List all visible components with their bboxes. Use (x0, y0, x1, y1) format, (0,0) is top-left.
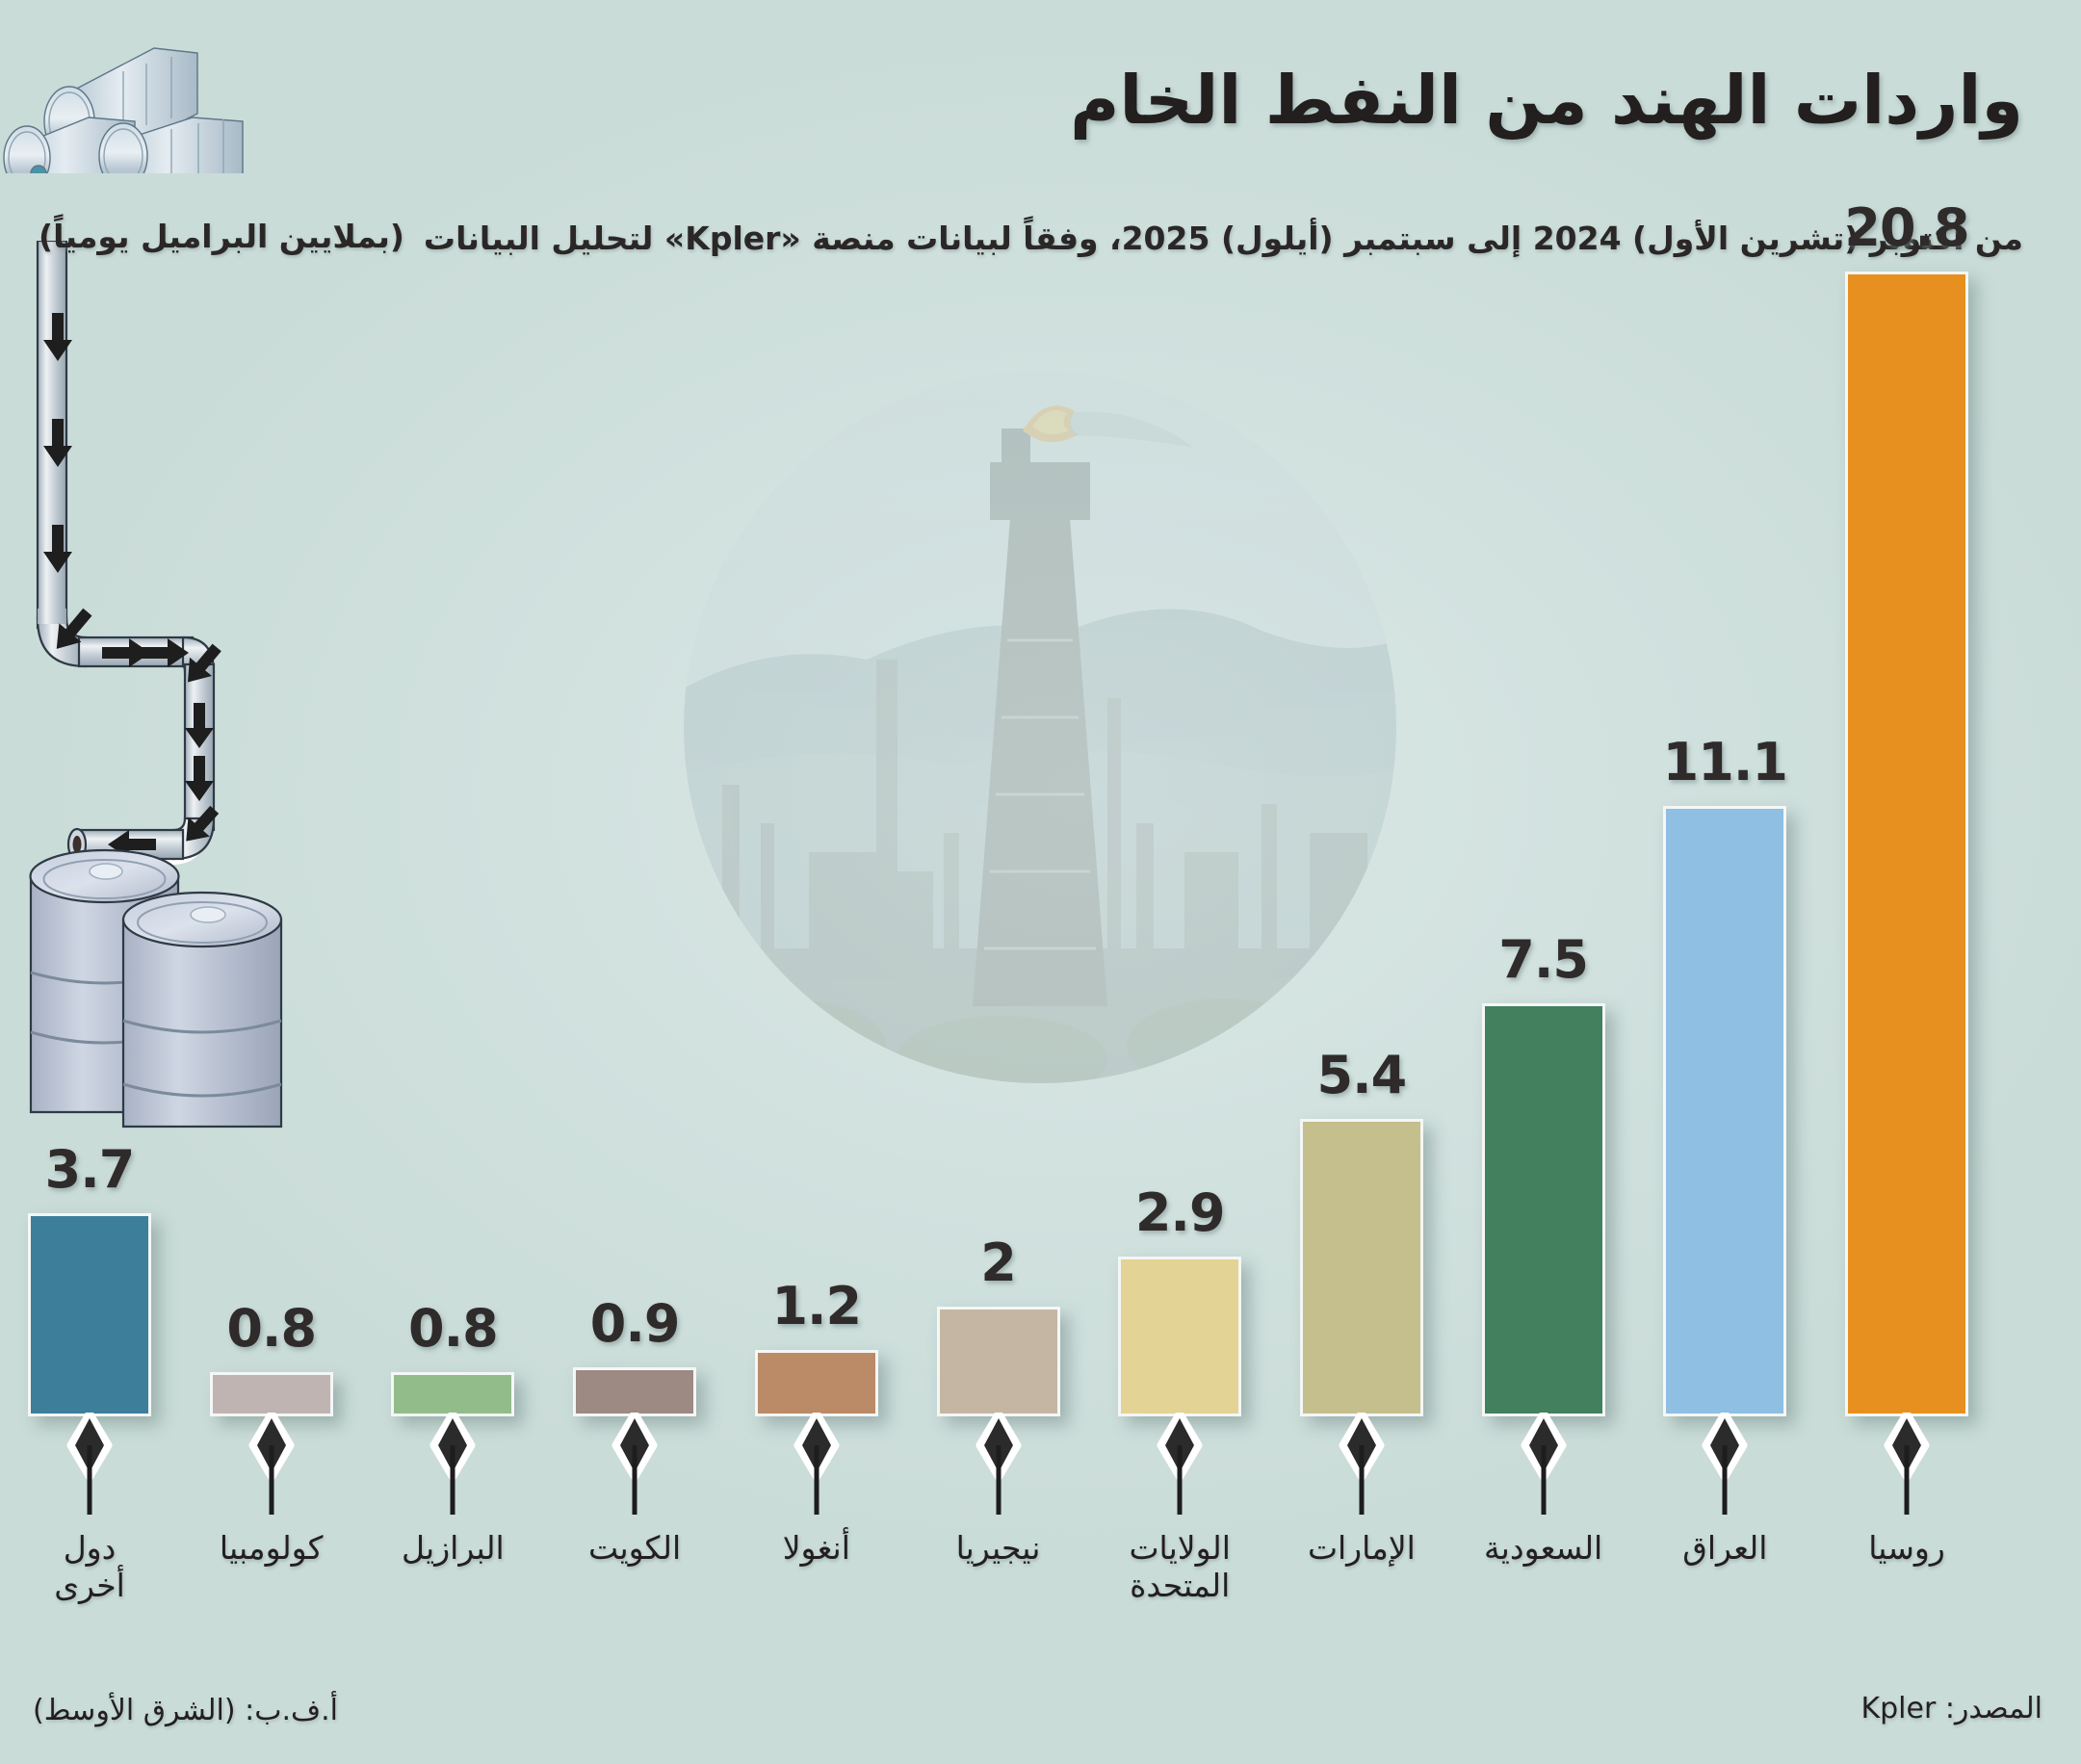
bar-group: 2 (937, 1018, 1060, 1416)
bar-group: 0.9 (573, 1078, 696, 1416)
bar-rect[interactable] (937, 1307, 1060, 1416)
bar-category-label: العراق (1682, 1530, 1767, 1568)
bar-rect[interactable] (755, 1350, 878, 1416)
bar-value-label: 1.2 (771, 1276, 861, 1336)
bar-group: 20.8 (1845, 0, 1968, 1416)
bar-value-label: 3.7 (45, 1139, 135, 1200)
bar-category-label: دولأخرى (54, 1530, 125, 1605)
bar-category-line: الكويت (588, 1530, 681, 1568)
bar-category-line: أنغولا (783, 1530, 850, 1568)
bar-marker-icon (427, 1413, 479, 1517)
bar-group: 5.4 (1300, 830, 1423, 1416)
bar-category-label: روسيا (1868, 1530, 1945, 1568)
bar-category-line: الإمارات (1308, 1530, 1416, 1568)
bar-group: 0.8 (391, 1083, 514, 1416)
bar-group: 11.1 (1663, 517, 1786, 1417)
bar-marker-icon (1518, 1413, 1570, 1517)
bar-rect[interactable] (28, 1213, 151, 1417)
bar-rect[interactable] (1482, 1003, 1605, 1416)
bar-group: 0.8 (210, 1083, 333, 1416)
infographic-page: واردات الهند من النفط الخام من أكتوبر (ت… (0, 0, 2081, 1764)
credit-text: أ.ف.ب: (الشرق الأوسط) (33, 1694, 338, 1727)
bar-marker-icon (1881, 1413, 1933, 1517)
bar-category-label: نيجيريا (956, 1530, 1041, 1568)
bar-category-line: نيجيريا (956, 1530, 1041, 1568)
bar-marker-icon (64, 1413, 116, 1517)
bar-value-label: 0.9 (590, 1293, 680, 1354)
bar-chart: 3.7دولأخرى0.8كولومبيا0.8البرازيل0.9الكوي… (0, 0, 2081, 1764)
bar-value-label: 5.4 (1317, 1045, 1407, 1105)
bar-category-line: روسيا (1868, 1530, 1945, 1568)
bar-value-label: 0.8 (408, 1298, 498, 1359)
bar-group: 3.7 (28, 924, 151, 1417)
bar-category-label: السعودية (1484, 1530, 1602, 1568)
bar-marker-icon (791, 1413, 843, 1517)
bar-value-label: 2 (980, 1232, 1016, 1293)
bar-group: 1.2 (755, 1061, 878, 1416)
bar-category-line: العراق (1682, 1530, 1767, 1568)
bar-category-line: دول (54, 1530, 125, 1568)
bar-value-label: 2.9 (1135, 1182, 1225, 1243)
bar-rect[interactable] (210, 1372, 333, 1416)
bar-marker-icon (1336, 1413, 1388, 1517)
bar-marker-icon (1699, 1413, 1751, 1517)
bar-value-label: 20.8 (1844, 197, 1968, 258)
bar-value-label: 7.5 (1498, 929, 1588, 990)
bar-category-label: الإمارات (1308, 1530, 1416, 1568)
bar-category-label: أنغولا (783, 1530, 850, 1568)
bar-rect[interactable] (1118, 1257, 1241, 1416)
bar-category-label: البرازيل (402, 1530, 505, 1568)
bar-category-line: المتحدة (1129, 1568, 1230, 1605)
bar-rect[interactable] (1300, 1119, 1423, 1416)
bar-marker-icon (973, 1413, 1025, 1517)
bar-category-line: أخرى (54, 1568, 125, 1605)
bar-category-label: كولومبيا (220, 1530, 324, 1568)
bar-group: 2.9 (1118, 968, 1241, 1416)
bar-category-line: السعودية (1484, 1530, 1602, 1568)
bar-rect[interactable] (391, 1372, 514, 1416)
source-text: المصدر: Kpler (1860, 1692, 2042, 1725)
bar-marker-icon (1154, 1413, 1206, 1517)
bar-marker-icon (246, 1413, 298, 1517)
bar-category-line: الولايات (1129, 1530, 1230, 1568)
bar-rect[interactable] (1845, 272, 1968, 1416)
bar-category-line: كولومبيا (220, 1530, 324, 1568)
bar-value-label: 11.1 (1663, 732, 1787, 792)
bar-rect[interactable] (1663, 806, 1786, 1417)
bar-value-label: 0.8 (226, 1298, 316, 1359)
bar-rect[interactable] (573, 1367, 696, 1416)
bar-category-label: الكويت (588, 1530, 681, 1568)
bar-marker-icon (609, 1413, 661, 1517)
bar-category-label: الولاياتالمتحدة (1129, 1530, 1230, 1605)
bar-group: 7.5 (1482, 714, 1605, 1416)
bar-category-line: البرازيل (402, 1530, 505, 1568)
